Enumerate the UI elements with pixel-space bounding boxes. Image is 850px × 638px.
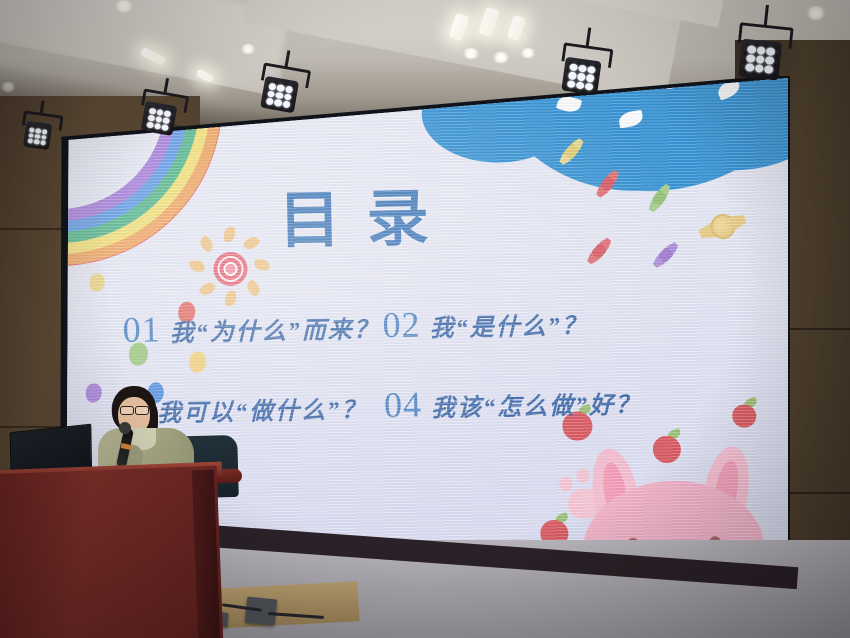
ceiling-downlight	[240, 44, 256, 54]
auditorium-room: 目录 01 我“为什么”而来？ 02 我“是什么”？ 03 我可以“做什么”？	[0, 0, 850, 638]
ceiling-downlight	[806, 6, 826, 20]
apple-icon	[732, 404, 756, 427]
color-dot	[90, 273, 105, 291]
ceiling-downlight	[462, 48, 480, 59]
toc-item-01[interactable]: 01 我“为什么”而来？	[122, 304, 380, 351]
ceiling-downlight	[492, 52, 510, 63]
toc-label: 我该“怎么做”好？	[431, 384, 642, 423]
microphone-head-icon	[119, 422, 131, 434]
toc-number: 04	[384, 383, 423, 426]
toc-number: 02	[382, 303, 421, 346]
podium	[0, 466, 223, 638]
toc-item-04[interactable]: 04 我该“怎么做”好？	[384, 379, 642, 426]
toc-label: 我“为什么”而来？	[169, 309, 380, 348]
sun-swirl-center	[213, 252, 248, 287]
ceiling-downlight	[520, 48, 536, 58]
slide-title: 目录	[278, 167, 456, 260]
ceiling-downlight	[114, 0, 134, 12]
eyeglasses-icon	[135, 406, 149, 415]
toc-number: 01	[122, 308, 161, 351]
color-dot	[189, 351, 206, 372]
eyeglasses-icon	[120, 406, 134, 415]
toc-label: 我“是什么”？	[429, 305, 588, 343]
sun-icon	[187, 226, 275, 314]
toc-item-02[interactable]: 02 我“是什么”？	[382, 300, 588, 346]
screenshot-root: 目录 01 我“为什么”而来？ 02 我“是什么”？ 03 我可以“做什么”？	[0, 0, 850, 638]
